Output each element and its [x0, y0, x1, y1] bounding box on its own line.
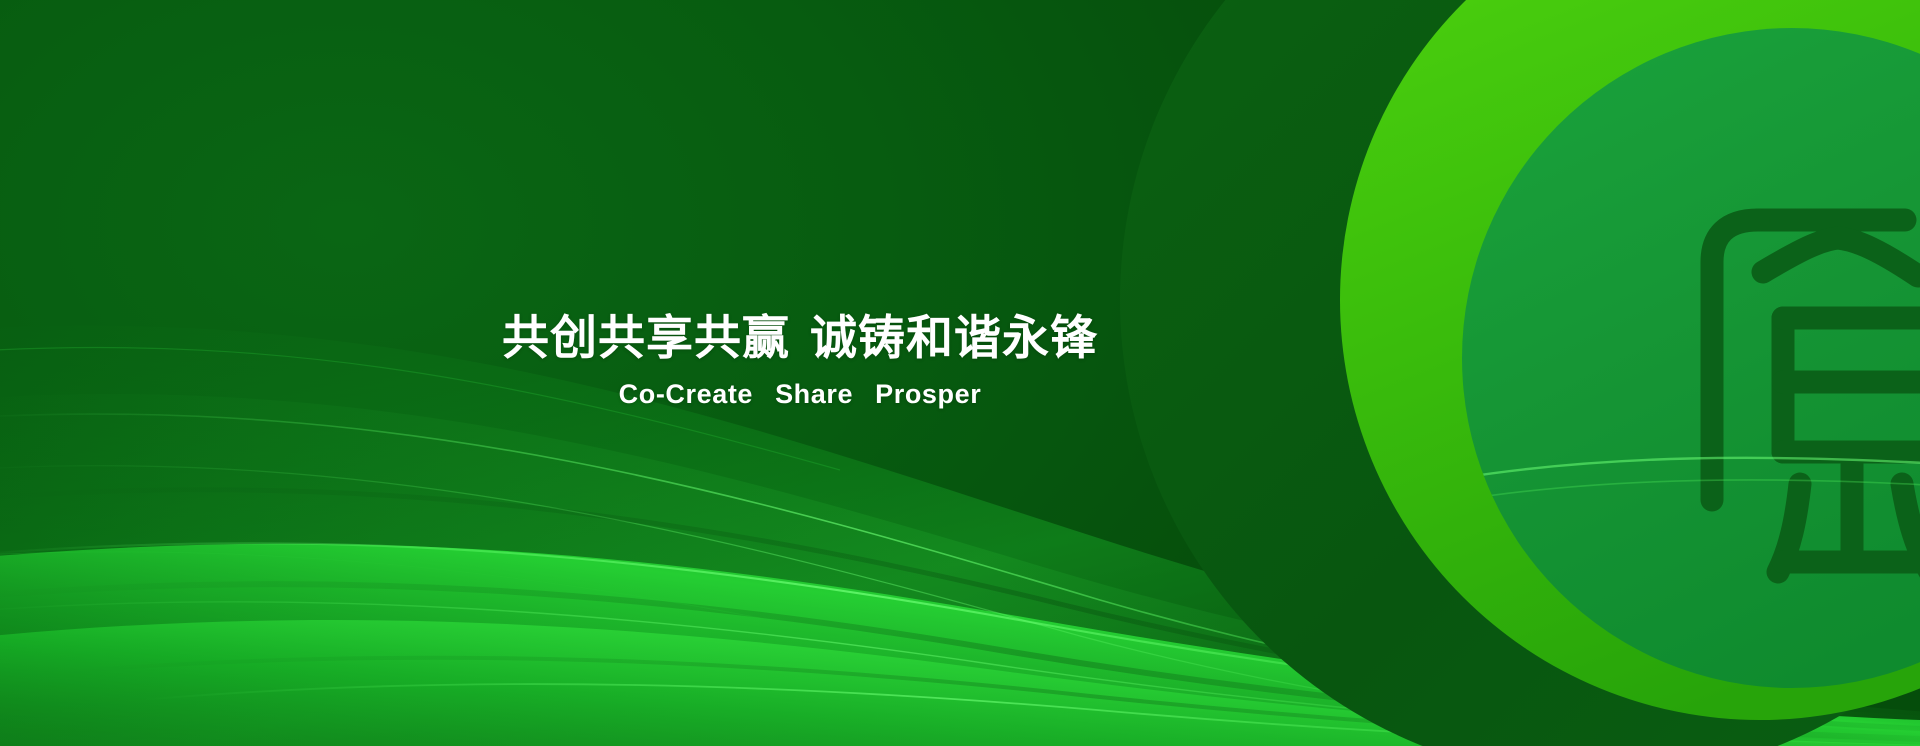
banner-subtitle: Co-CreateShareProsper — [450, 379, 1150, 410]
wave-band-upper — [0, 394, 1920, 746]
headline-part-1: 共创共享共赢 — [502, 311, 790, 366]
subtitle-word-3: Prosper — [875, 379, 981, 410]
hero-banner: 共创共享共赢诚铸和谐永锋 Co-CreateShareProsper — [0, 0, 1920, 746]
subtitle-word-1: Co-Create — [619, 379, 753, 410]
headline-part-2: 诚铸和谐永锋 — [810, 311, 1098, 366]
subtitle-word-2: Share — [775, 379, 853, 410]
banner-copy-block: 共创共享共赢诚铸和谐永锋 Co-CreateShareProsper — [450, 312, 1150, 410]
banner-headline: 共创共享共赢诚铸和谐永锋 — [450, 312, 1150, 367]
